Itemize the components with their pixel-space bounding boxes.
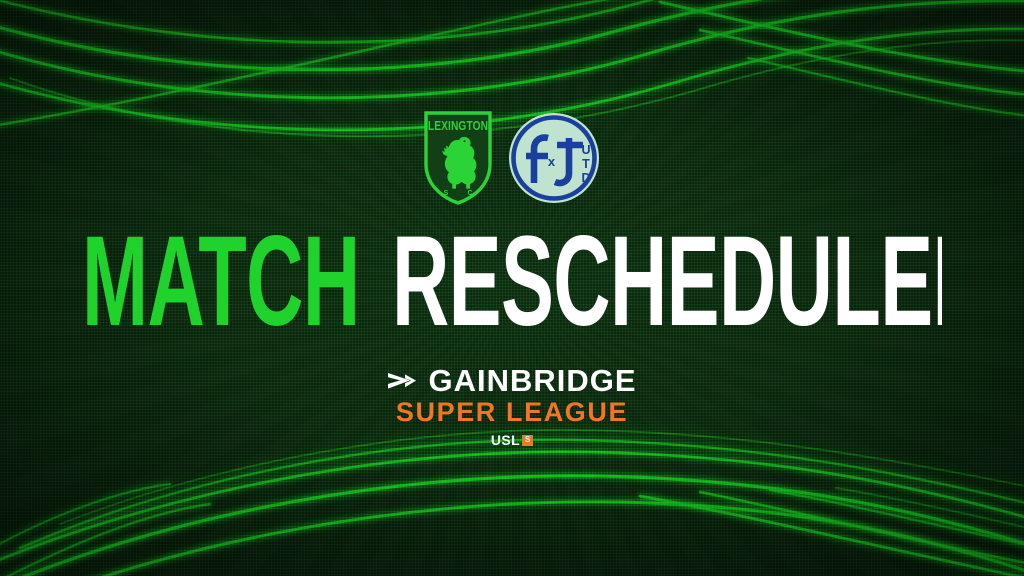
club-crests: LEXINGTON S C x: [0, 106, 1024, 210]
crest-initial-s: S: [444, 190, 449, 197]
headline-word-two: RESCHEDULED: [392, 230, 942, 330]
match-rescheduled-graphic: LEXINGTON S C x: [0, 0, 1024, 576]
svg-text:U: U: [581, 143, 590, 157]
super-league-wordmark: SUPER LEAGUE: [396, 399, 628, 426]
usl-badge: S: [522, 435, 533, 446]
crest-initial-c: C: [467, 190, 472, 197]
crest-x-mark: x: [548, 154, 556, 169]
gainbridge-wordmark: GAINBRIDGE: [428, 365, 636, 396]
crest-lexington-sc: LEXINGTON S C: [423, 110, 493, 206]
crest-utd-text: U T D: [581, 143, 590, 185]
headline: MATCH RESCHEDULED: [0, 221, 1024, 339]
crest-lexington-wordmark: LEXINGTON: [428, 120, 488, 133]
svg-text:T: T: [582, 157, 590, 171]
chevron-right-icon: [387, 371, 417, 391]
gainbridge-row: GAINBRIDGE: [387, 366, 636, 395]
usl-lockup: USL S: [491, 433, 533, 447]
svg-text:D: D: [581, 171, 590, 185]
sponsor-lockup: GAINBRIDGE SUPER LEAGUE USL S: [0, 366, 1024, 447]
headline-lockup: MATCH RESCHEDULED: [82, 230, 942, 330]
usl-wordmark: USL: [491, 433, 520, 447]
crest-fc-utd: x U T D: [507, 111, 601, 205]
headline-word-one: MATCH: [82, 230, 360, 330]
